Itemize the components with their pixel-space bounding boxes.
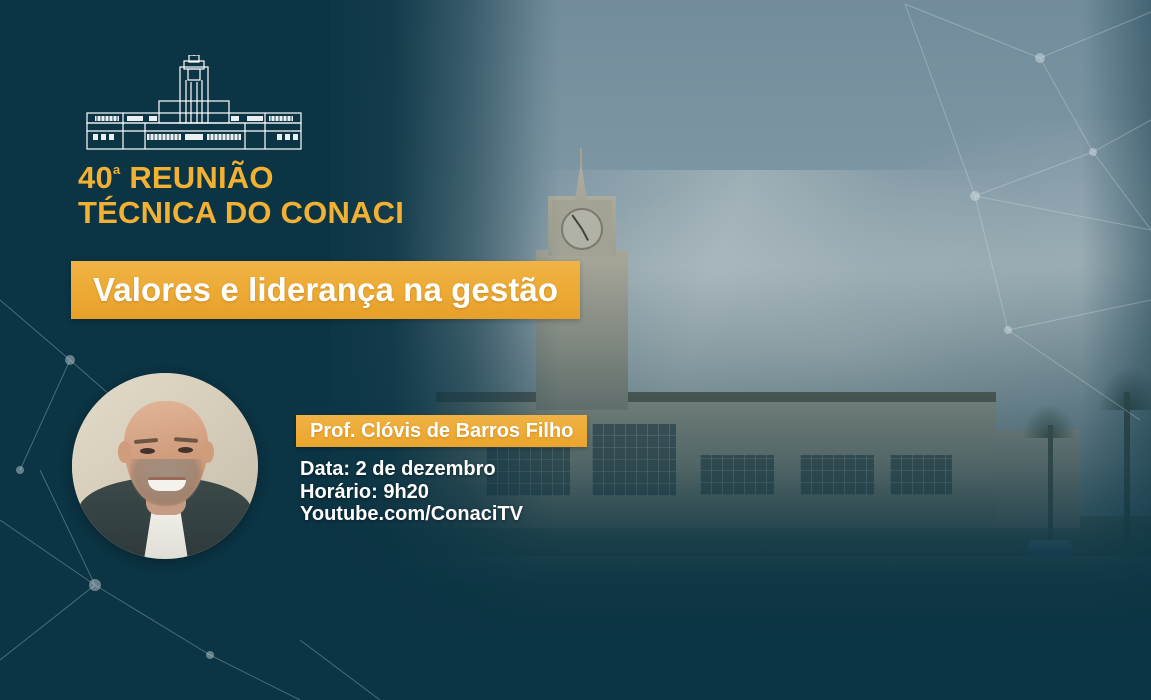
speaker-name-band: Prof. Clóvis de Barros Filho — [296, 415, 587, 447]
portrait-ear-right — [201, 441, 214, 463]
event-date: Data: 2 de dezembro — [300, 458, 523, 481]
kicker-word: REUNIÃO — [121, 160, 274, 195]
event-stream-url: Youtube.com/ConaciTV — [300, 503, 523, 526]
portrait-eye-right — [178, 447, 193, 453]
speaker-portrait-photo — [72, 373, 258, 559]
event-promo-banner: 40ª REUNIÃO TÉCNICA DO CONACI Valores e … — [0, 0, 1151, 700]
sponsor-logo-strip: SANEAGO — [0, 590, 1151, 700]
kicker-ordinal: ª — [113, 164, 121, 186]
banner-content: 40ª REUNIÃO TÉCNICA DO CONACI Valores e … — [0, 0, 1151, 700]
event-kicker: 40ª REUNIÃO TÉCNICA DO CONACI — [78, 160, 404, 230]
event-details: Data: 2 de dezembro Horário: 9h20 Youtub… — [300, 458, 523, 526]
kicker-line-2: TÉCNICA DO CONACI — [78, 195, 404, 230]
kicker-line-1: 40ª REUNIÃO — [78, 160, 404, 195]
portrait-smile — [148, 477, 186, 491]
portrait-eye-left — [140, 448, 155, 454]
page-title: Valores e liderança na gestão — [93, 271, 558, 309]
event-title-band: Valores e liderança na gestão — [71, 261, 580, 319]
station-building-icon — [85, 55, 303, 153]
speaker-name: Prof. Clóvis de Barros Filho — [310, 420, 573, 443]
event-time: Horário: 9h20 — [300, 481, 523, 504]
kicker-number: 40 — [78, 160, 113, 195]
